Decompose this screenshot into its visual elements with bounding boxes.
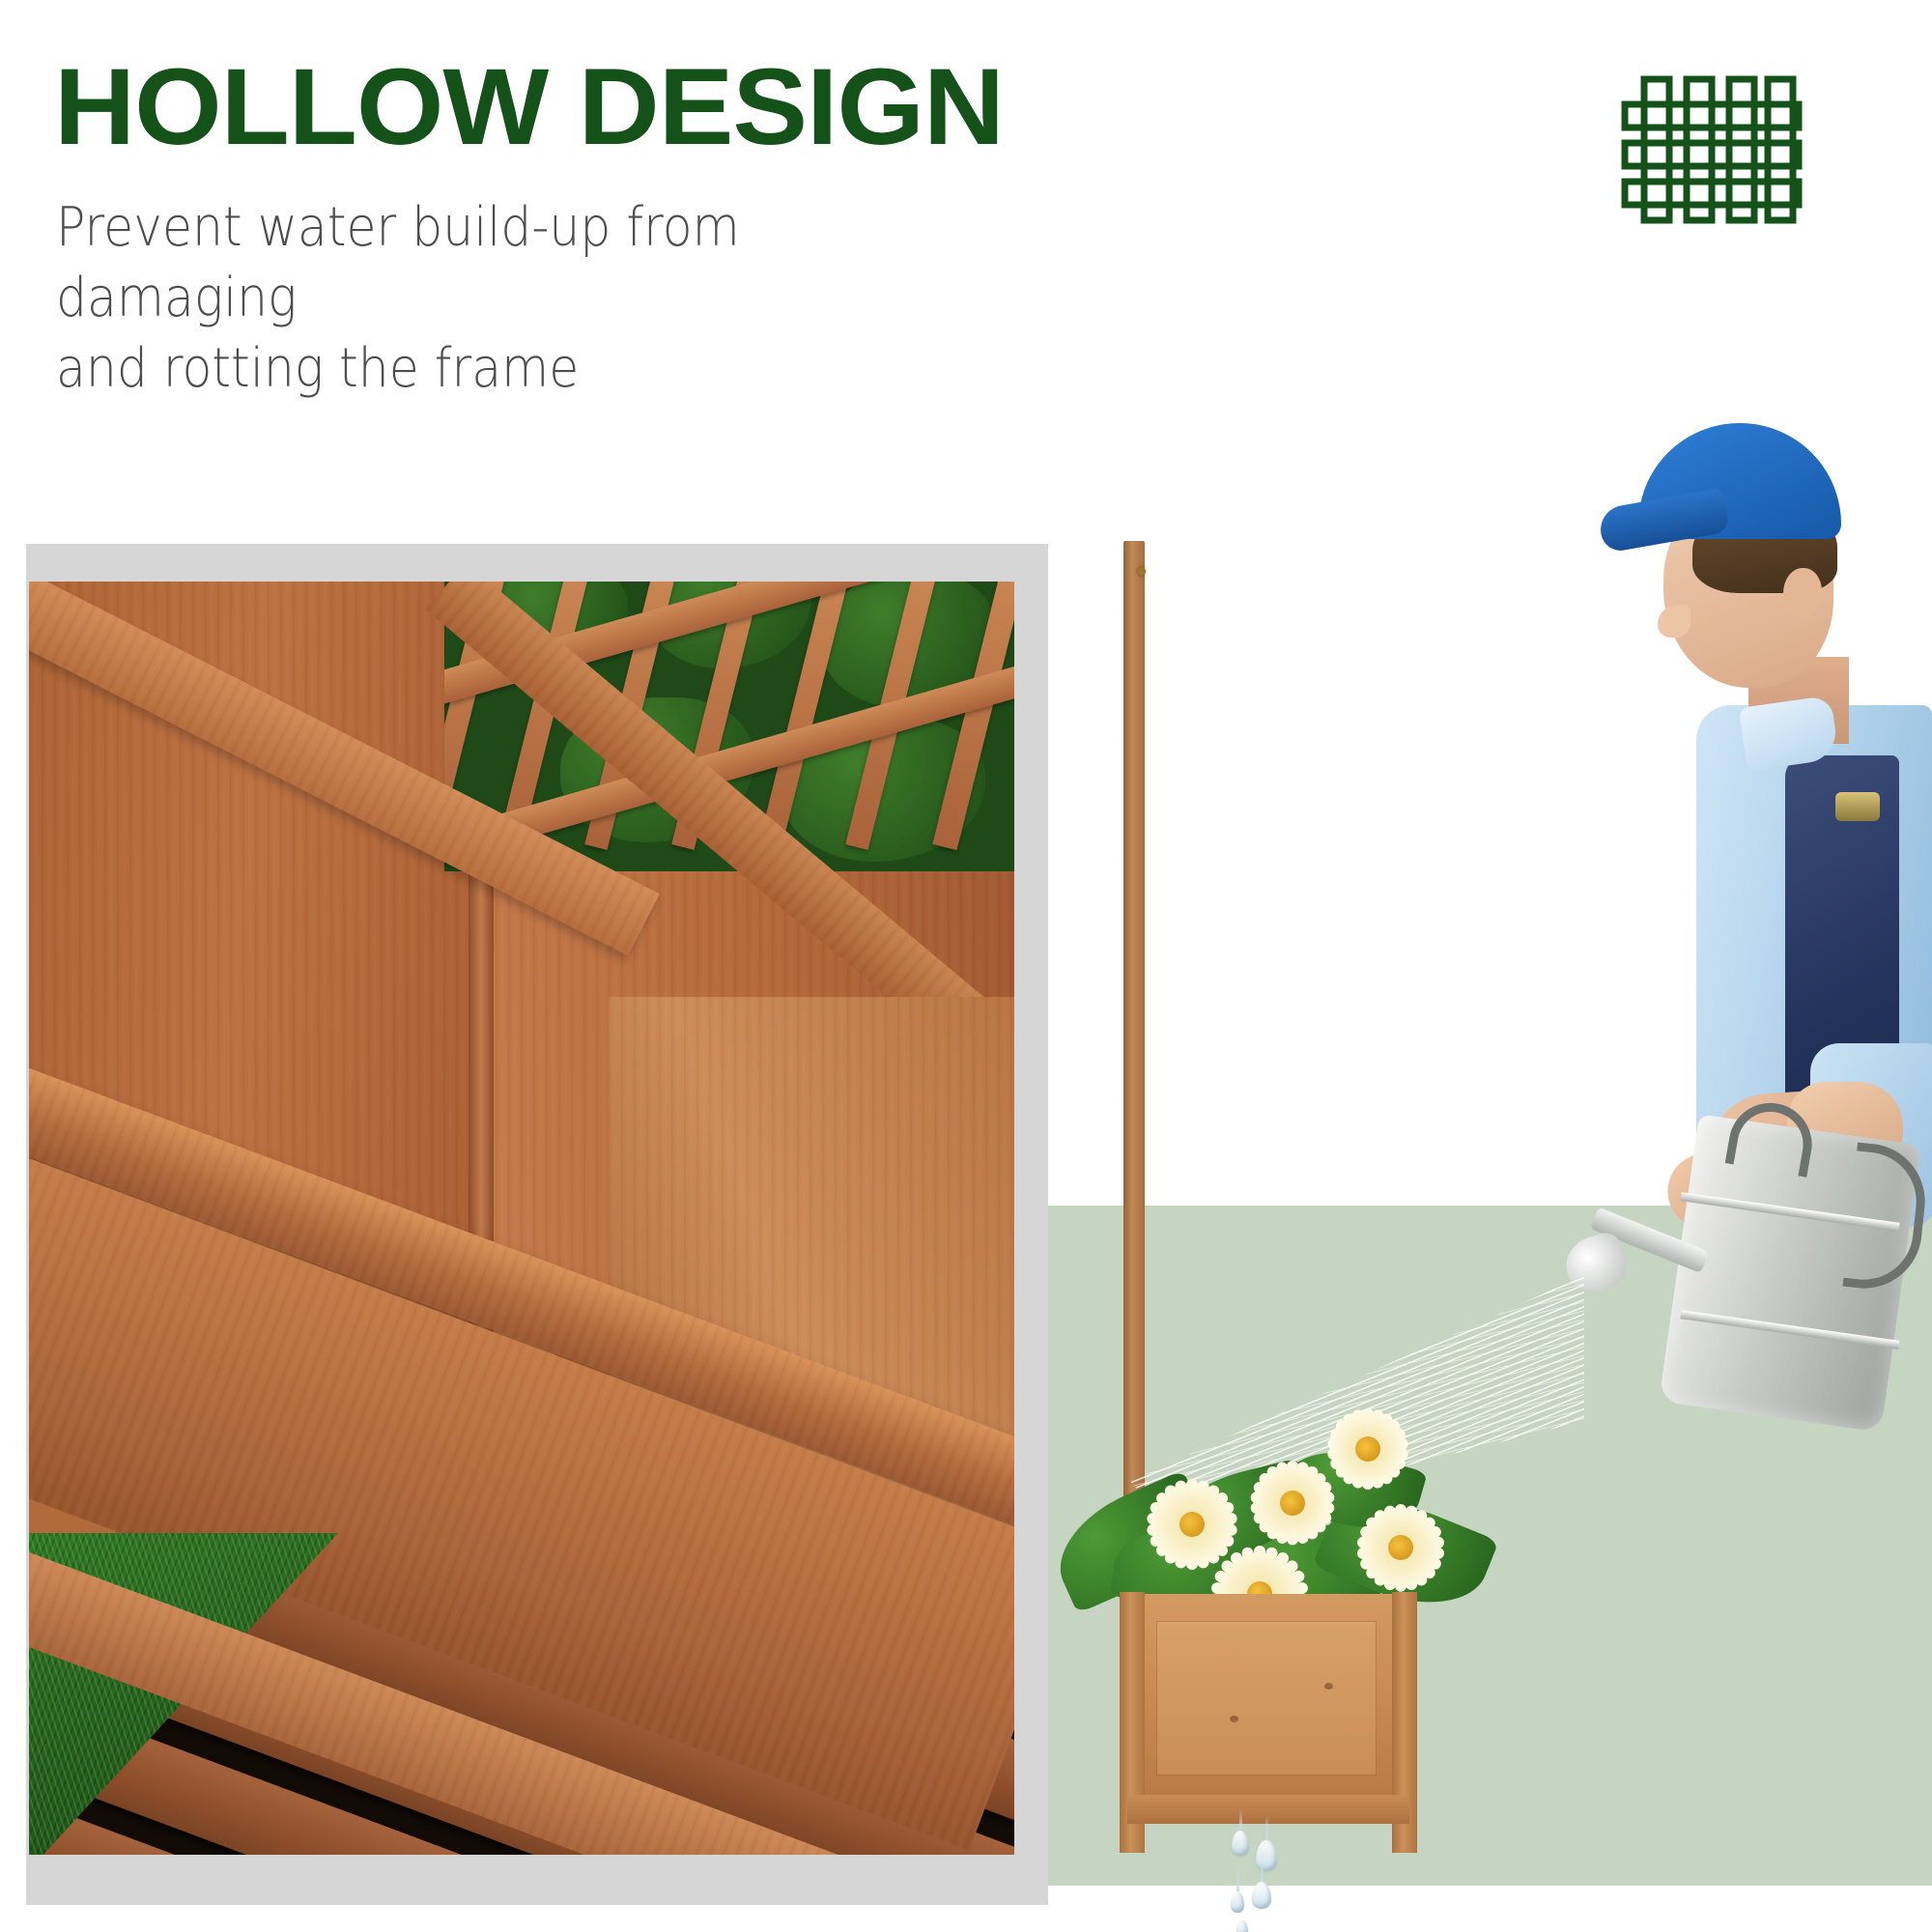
planter-bottom-rail xyxy=(1127,1795,1409,1824)
fence-trellis-icon xyxy=(1617,70,1806,226)
drop-tail xyxy=(1236,1862,1239,1891)
apron-clip-icon xyxy=(1835,792,1880,821)
planter-interior-closeup-photo xyxy=(29,582,1014,1855)
water-drop xyxy=(1252,1882,1271,1909)
water-drop xyxy=(1232,1831,1249,1856)
post-screw-icon xyxy=(1137,567,1146,576)
water-drop xyxy=(1236,1920,1248,1932)
drop-tail xyxy=(1261,1849,1264,1882)
daisy-center xyxy=(1280,1491,1305,1516)
page-subtitle: Prevent water build-up from damaging and… xyxy=(56,193,960,404)
nose xyxy=(1658,605,1690,638)
marketing-banner: HOLLOW DESIGN Prevent water build-up fro… xyxy=(0,0,1932,1932)
watering-can xyxy=(1560,1101,1932,1517)
planter-box xyxy=(1116,1565,1420,1845)
daisy-center xyxy=(1388,1535,1413,1560)
daisy-flower xyxy=(1320,1401,1416,1497)
drop-tail xyxy=(1239,1809,1242,1831)
daisy-center xyxy=(1355,1436,1380,1462)
drop-tail xyxy=(1265,1815,1268,1840)
subtitle-line-1: Prevent water build-up from damaging xyxy=(56,193,960,334)
planter-front-panel xyxy=(1156,1621,1377,1776)
daisy-center xyxy=(1179,1512,1205,1537)
subtitle-line-2: and rotting the frame xyxy=(56,334,960,405)
water-drop xyxy=(1231,1891,1244,1913)
can-top-handle xyxy=(1725,1096,1819,1178)
page-title: HOLLOW DESIGN xyxy=(54,53,1004,161)
